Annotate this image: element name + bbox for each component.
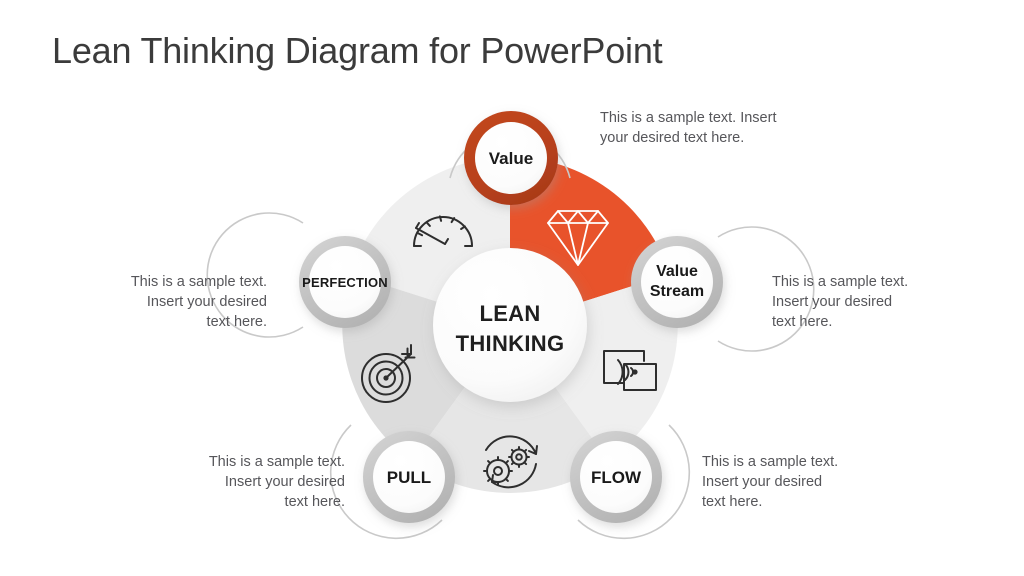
description-value-stream-line1: This is a sample text. [772,272,957,292]
node-value-stream-face[interactable] [641,246,713,318]
node-flow[interactable]: FLOW [570,425,689,538]
node-pull[interactable]: PULL [331,425,455,538]
description-value-line1: This is a sample text. Insert [600,108,800,128]
description-value: This is a sample text. Insert your desir… [600,108,800,148]
description-flow-line2: Insert your desired [702,472,887,492]
description-flow: This is a sample text. Insert your desir… [702,452,887,512]
node-perfection-label: PERFECTION [302,275,388,290]
description-value-stream-line2: Insert your desired [772,292,957,312]
node-value-label: Value [489,149,533,168]
description-value-stream: This is a sample text. Insert your desir… [772,272,957,332]
hub-label-line2: THINKING [456,331,565,356]
node-value-stream-label-line2: Stream [650,283,704,300]
description-perfection-line3: text here. [82,312,267,332]
description-flow-line1: This is a sample text. [702,452,887,472]
node-flow-label: FLOW [591,468,642,487]
description-value-line2: your desired text here. [600,128,800,148]
description-perfection-line1: This is a sample text. [82,272,267,292]
hub-label-line1: LEAN [479,301,540,326]
description-perfection-line2: Insert your desired [82,292,267,312]
description-pull-line2: Insert your desired [160,472,345,492]
center-hub[interactable]: LEAN THINKING [433,248,587,402]
description-pull: This is a sample text. Insert your desir… [160,452,345,512]
description-pull-line1: This is a sample text. [160,452,345,472]
node-value-stream-label-line1: Value [656,263,698,280]
description-flow-line3: text here. [702,492,887,512]
slide-canvas: Lean Thinking Diagram for PowerPoint [0,0,1024,576]
description-pull-line3: text here. [160,492,345,512]
description-value-stream-line3: text here. [772,312,957,332]
description-perfection: This is a sample text. Insert your desir… [82,272,267,332]
node-pull-label: PULL [387,468,431,487]
